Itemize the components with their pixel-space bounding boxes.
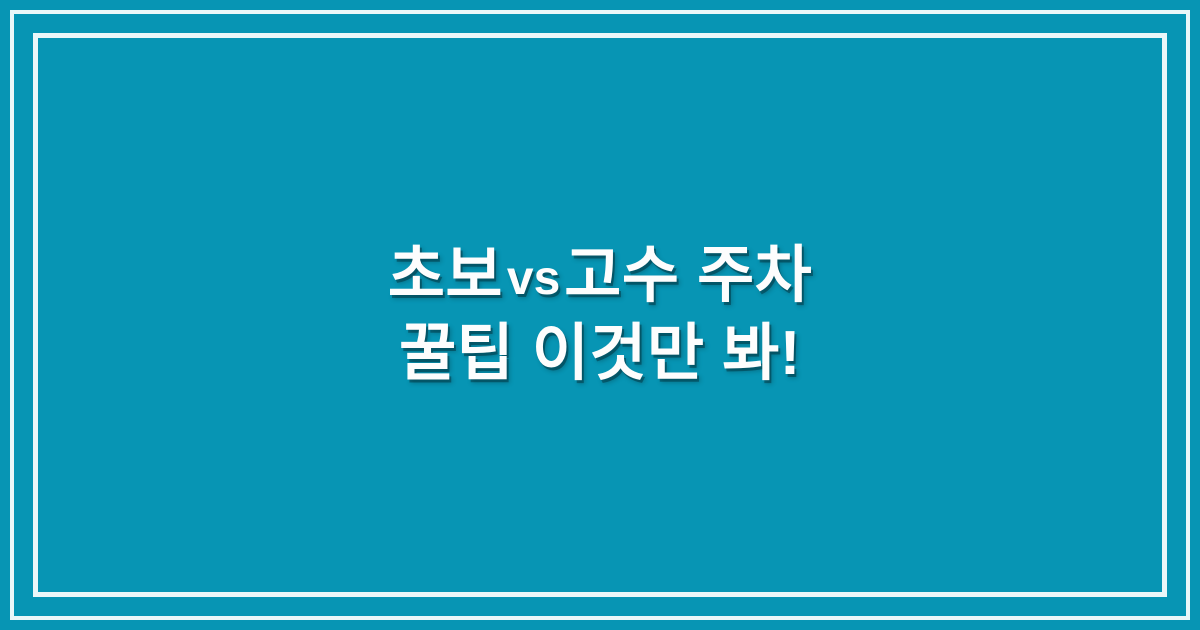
title-line-2: 꿀팁 이것만 봐! xyxy=(399,315,801,393)
title-line-1: 초보vs고수 주차 xyxy=(388,237,812,315)
title-block: 초보vs고수 주차 꿀팁 이것만 봐! xyxy=(0,0,1200,630)
title-line-1-suffix: 고수 주차 xyxy=(564,241,812,310)
title-line-1-prefix: 초보 xyxy=(388,241,503,310)
thumbnail-card: 초보vs고수 주차 꿀팁 이것만 봐! xyxy=(0,0,1200,630)
title-vs-separator: vs xyxy=(503,252,564,305)
